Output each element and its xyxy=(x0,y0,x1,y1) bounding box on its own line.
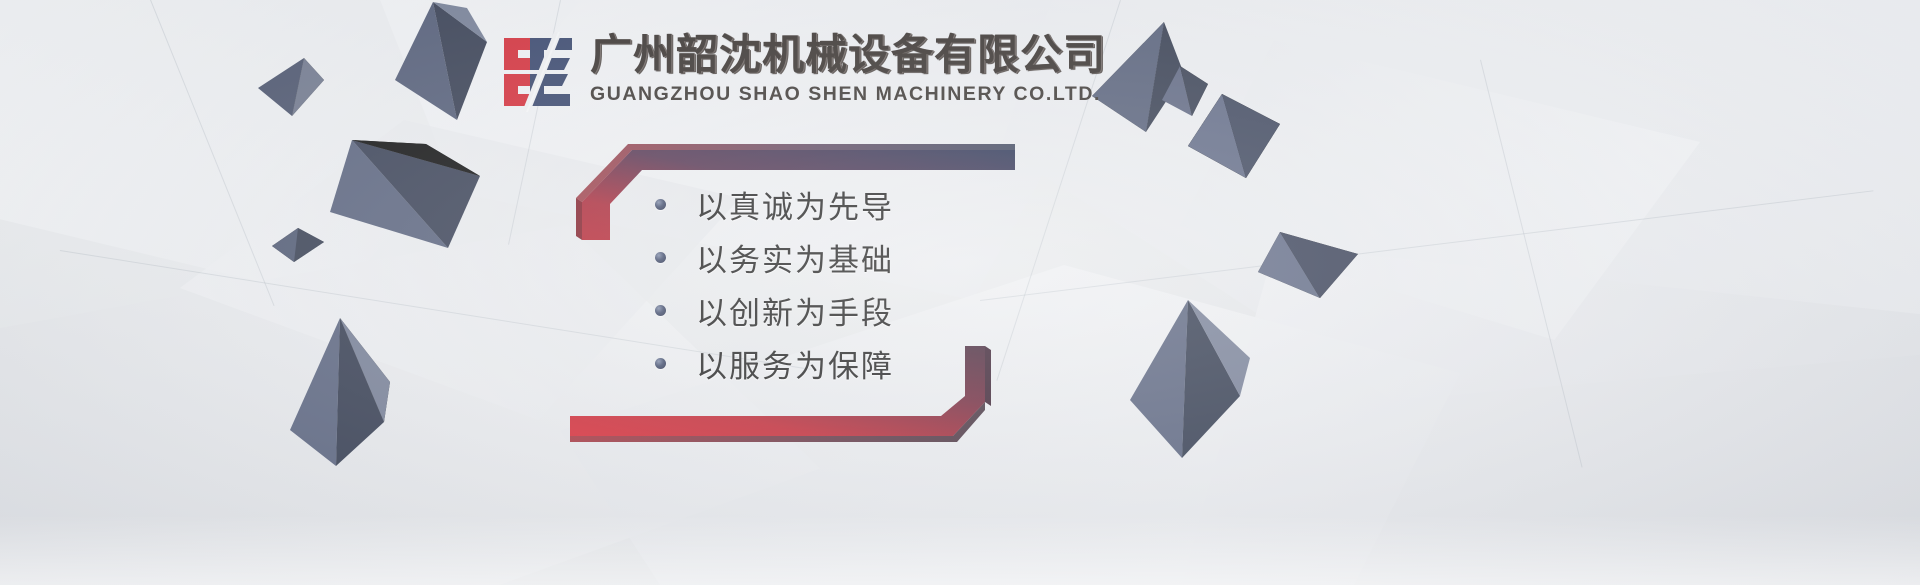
shard-far-right xyxy=(1130,300,1250,458)
bg-facet-1 xyxy=(0,0,580,300)
slogan-item: 以服务为保障 xyxy=(655,337,894,390)
bullet-dot-icon xyxy=(655,358,666,369)
company-name-cn: 广州韶沈机械设备有限公司 xyxy=(590,34,1106,76)
shard-mid-left-large xyxy=(330,140,480,258)
bg-seam-6 xyxy=(980,190,1873,301)
bg-seam-1 xyxy=(150,0,275,306)
company-name-en: GUANGZHOU SHAO SHEN MACHINERY CO.LTD. xyxy=(590,83,1106,106)
shard-right-bottom xyxy=(1258,232,1358,298)
slogan-text: 以服务为保障 xyxy=(696,341,894,386)
bg-seam-4 xyxy=(1480,60,1583,468)
slogan-text: 以务实为基础 xyxy=(696,235,894,280)
hero-banner: 广州韶沈机械设备有限公司 GUANGZHOU SHAO SHEN MACHINE… xyxy=(0,0,1920,585)
slogan-item: 以创新为手段 xyxy=(655,284,894,337)
ss-monogram-logo-icon xyxy=(500,32,576,112)
bg-facet-6 xyxy=(1160,245,1920,585)
slogan-list: 以真诚为先导 以务实为基础 以创新为手段 以服务为保障 xyxy=(655,178,894,390)
shard-top-left-small xyxy=(258,58,324,116)
shard-bottom-left xyxy=(290,318,390,466)
floor-reflection xyxy=(0,515,1920,585)
slogan-text: 以真诚为先导 xyxy=(696,182,894,227)
slogan-item: 以务实为基础 xyxy=(655,231,894,284)
brand-text: 广州韶沈机械设备有限公司 GUANGZHOU SHAO SHEN MACHINE… xyxy=(590,32,1106,106)
bullet-dot-icon xyxy=(655,199,666,210)
slogan-item: 以真诚为先导 xyxy=(655,178,894,231)
bg-facet-8 xyxy=(1180,40,1700,340)
brand-lockup: 广州韶沈机械设备有限公司 GUANGZHOU SHAO SHEN MACHINE… xyxy=(500,32,1106,112)
shard-top-center xyxy=(395,2,505,120)
shard-right-diamond xyxy=(1188,94,1280,178)
shard-left-tiny xyxy=(272,228,324,262)
shard-right-small xyxy=(1162,66,1208,116)
slogan-text: 以创新为手段 xyxy=(696,288,894,333)
bg-facet-3 xyxy=(1000,0,1920,400)
bullet-dot-icon xyxy=(655,305,666,316)
bullet-dot-icon xyxy=(655,252,666,263)
